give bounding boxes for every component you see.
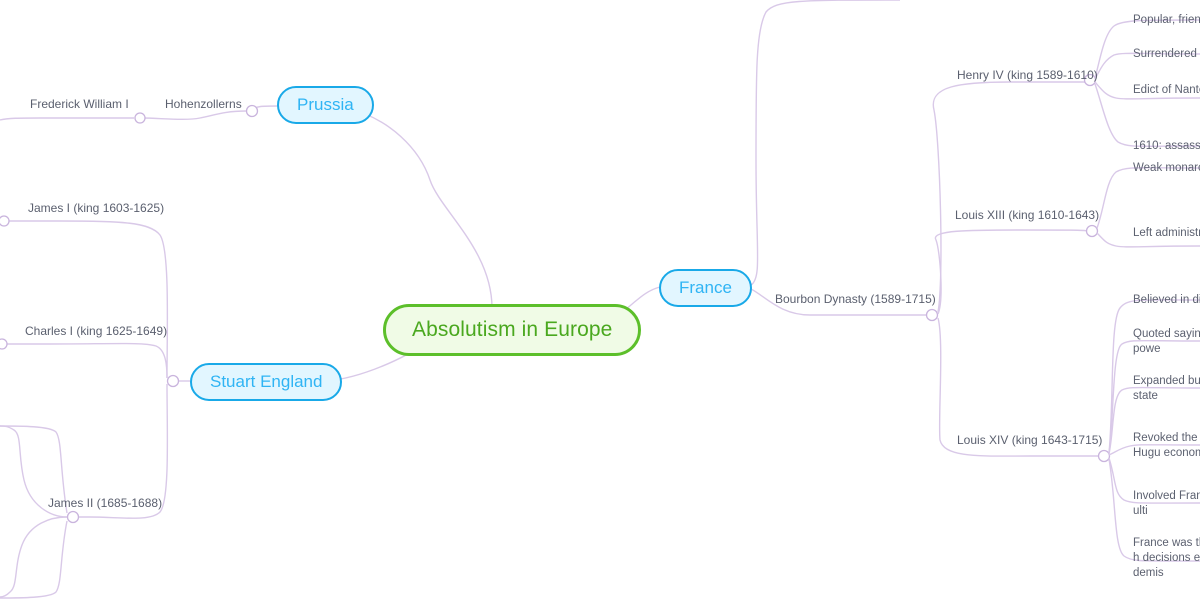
link-frederick-william	[0, 118, 134, 120]
note-louis-xiii-1[interactable]: Weak monarch	[1133, 161, 1200, 176]
note-louis-xiv-2[interactable]: Quoted saying absolute powe	[1133, 327, 1200, 357]
note-henry-iv-1[interactable]: Popular, friend	[1133, 13, 1200, 28]
subtopic-charles-i[interactable]: Charles I (king 1625-1649)	[25, 324, 167, 340]
link-james-i	[6, 221, 167, 378]
note-louis-xiv-1[interactable]: Believed in div	[1133, 293, 1200, 308]
subtopic-frederick-william-i[interactable]: Frederick William I	[30, 97, 129, 113]
collapse-handle-louis-xiv	[1099, 451, 1110, 462]
note-louis-xiii-2[interactable]: Left administra	[1133, 226, 1200, 241]
link-james-ii-sub-2	[0, 517, 67, 597]
subtopic-hohenzollerns[interactable]: Hohenzollerns	[165, 97, 242, 113]
subtopic-bourbon-dynasty[interactable]: Bourbon Dynasty (1589-1715)	[775, 292, 936, 308]
note-louis-xiv-6[interactable]: France was the at the end of h decisions…	[1133, 536, 1200, 582]
collapse-handle-louis-xiii	[1087, 226, 1098, 237]
branch-prussia[interactable]: Prussia	[277, 86, 374, 124]
collapse-handle-hohenzollerns	[135, 113, 145, 123]
subtopic-james-ii[interactable]: James II (1685-1688)	[48, 496, 162, 512]
collapse-handle-bourbon	[927, 310, 938, 321]
link-louis13-note-1	[1097, 168, 1200, 228]
collapse-handle-stuart	[168, 376, 179, 387]
subtopic-louis-xiii[interactable]: Louis XIII (king 1610-1643)	[955, 208, 1099, 224]
link-louis-xiii	[935, 230, 1088, 314]
link-central-prussia	[346, 108, 492, 308]
subtopic-louis-xiv[interactable]: Louis XIV (king 1643-1715)	[957, 433, 1102, 449]
note-henry-iv-3[interactable]: Edict of Nante worship privat	[1133, 83, 1200, 98]
central-topic[interactable]: Absolutism in Europe	[383, 304, 641, 356]
collapse-handle-charles-i	[0, 339, 7, 349]
branch-stuart-england[interactable]: Stuart England	[190, 363, 342, 401]
mindmap-canvas[interactable]: Absolutism in Europe Prussia Stuart Engl…	[0, 0, 1200, 600]
connector-layer	[0, 0, 1200, 600]
link-henry-iv	[933, 82, 1086, 312]
note-henry-iv-4[interactable]: 1610: assassina	[1133, 139, 1200, 154]
link-james-ii-sub-4	[0, 521, 67, 598]
branch-france[interactable]: France	[659, 269, 752, 307]
collapse-handle-prussia	[247, 106, 258, 117]
note-henry-iv-2[interactable]: Surrendered H	[1133, 47, 1200, 62]
subtopic-henry-iv[interactable]: Henry IV (king 1589-1610)	[957, 68, 1098, 84]
link-france-top-rail	[751, 0, 900, 285]
subtopic-james-i[interactable]: James I (king 1603-1625)	[28, 201, 164, 217]
link-prussia-spine	[252, 106, 278, 110]
link-charles-i	[4, 344, 167, 379]
note-louis-xiv-3[interactable]: Expanded bure intendants to state	[1133, 374, 1200, 404]
collapse-handle-james-ii	[68, 512, 79, 523]
note-louis-xiv-5[interactable]: Involved Franc nation and ulti	[1133, 489, 1200, 519]
collapse-handle-james-i	[0, 216, 9, 226]
note-louis-xiv-4[interactable]: Revoked the E talented Hugu economic pot…	[1133, 431, 1200, 461]
